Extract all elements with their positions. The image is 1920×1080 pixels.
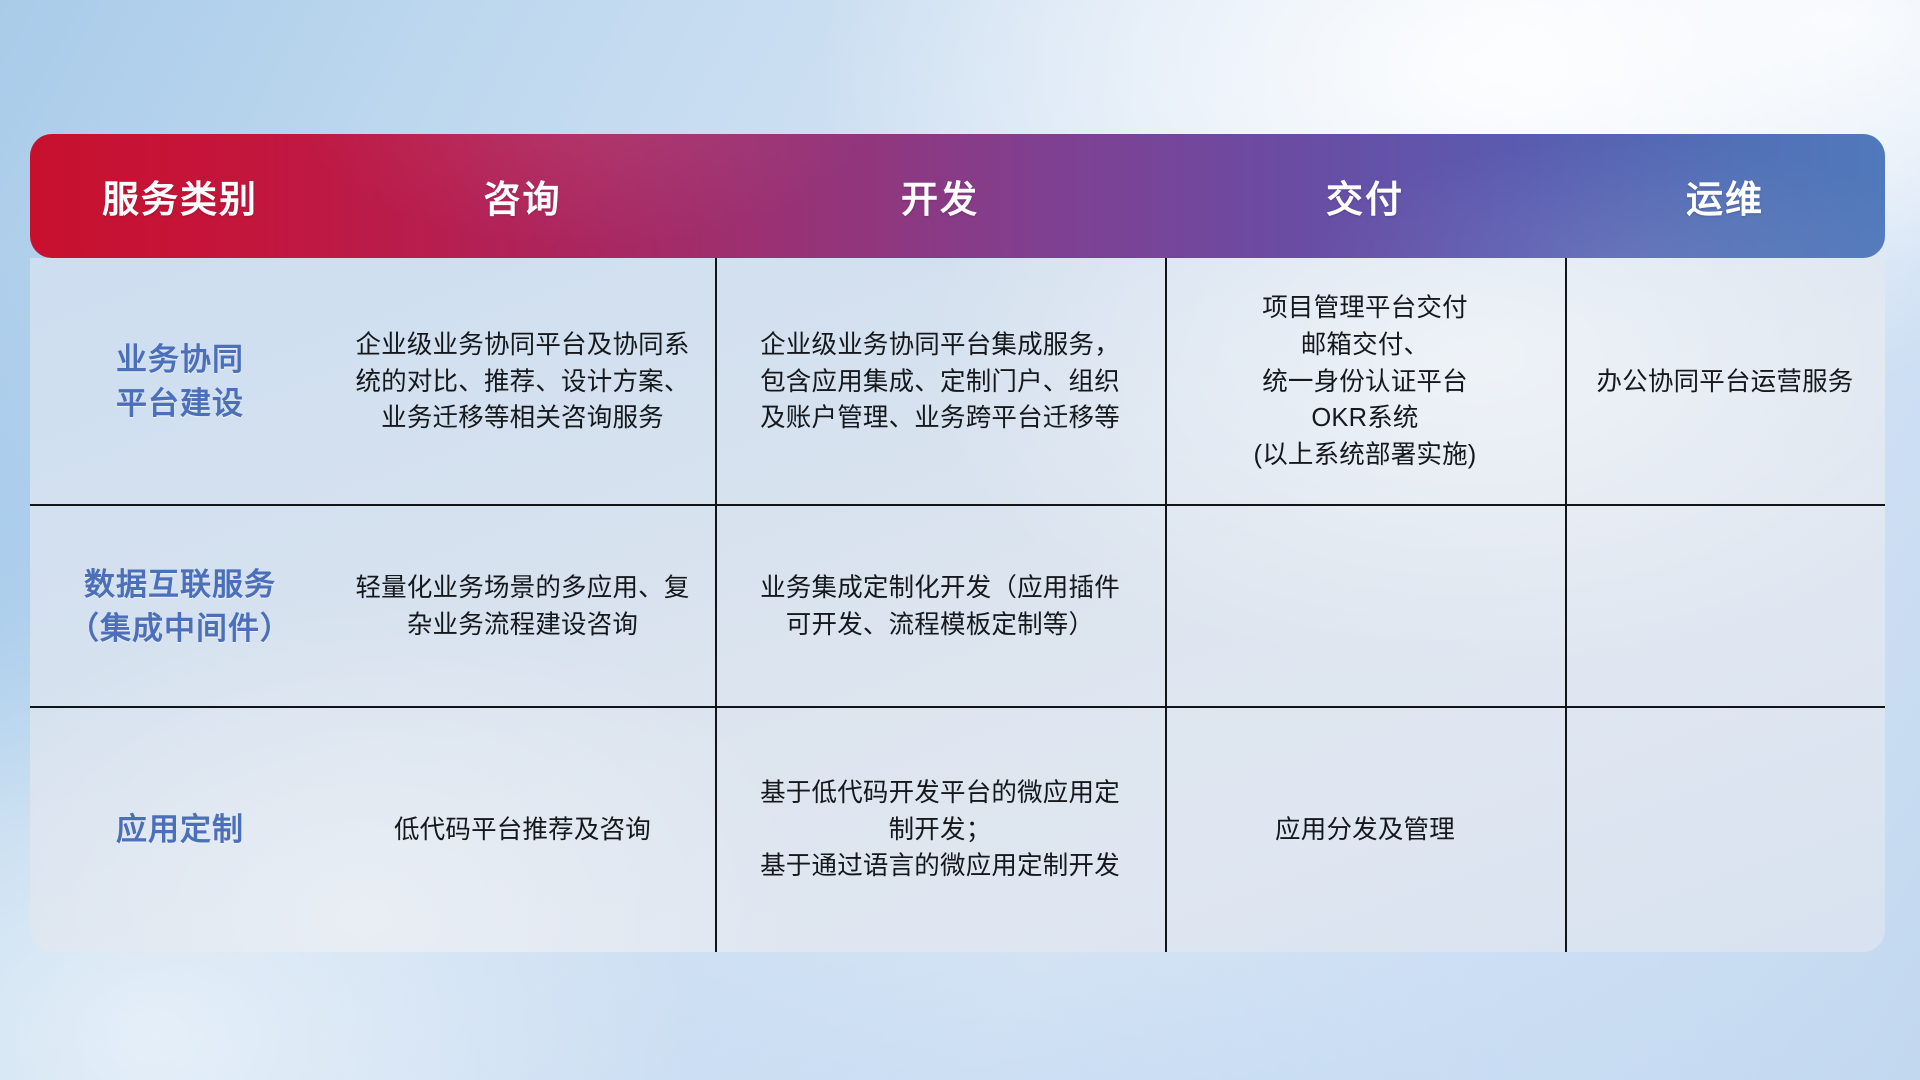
table-header-row: 服务类别 咨询 开发 交付 运维 xyxy=(30,134,1885,258)
column-header-development: 开发 xyxy=(715,169,1165,223)
cell-row1-consulting: 企业级业务协同平台及协同系 统的对比、推荐、设计方案、 业务迁移等相关咨询服务 xyxy=(330,258,715,506)
table-row: 业务协同 平台建设 企业级业务协同平台及协同系 统的对比、推荐、设计方案、 业务… xyxy=(30,258,1885,506)
cell-row3-development: 基于低代码开发平台的微应用定 制开发； 基于通过语言的微应用定制开发 xyxy=(715,708,1165,952)
column-header-operations: 运维 xyxy=(1565,169,1885,223)
cell-row1-delivery: 项目管理平台交付 邮箱交付、 统一身份认证平台 OKR系统 (以上系统部署实施) xyxy=(1165,258,1565,506)
service-category-table: 服务类别 咨询 开发 交付 运维 业务协同 平台建设 企业级业务协同平台及协同系… xyxy=(30,134,1885,952)
cell-row2-development: 业务集成定制化开发（应用插件 可开发、流程模板定制等） xyxy=(715,506,1165,708)
column-header-consulting: 咨询 xyxy=(330,169,715,223)
cell-row2-operations xyxy=(1565,506,1885,708)
column-divider-2 xyxy=(1165,258,1167,952)
table-row: 数据互联服务 （集成中间件） 轻量化业务场景的多应用、复 杂业务流程建设咨询 业… xyxy=(30,506,1885,708)
row-label-business-collaboration: 业务协同 平台建设 xyxy=(30,258,330,506)
cell-row2-consulting: 轻量化业务场景的多应用、复 杂业务流程建设咨询 xyxy=(330,506,715,708)
row-label-data-integration: 数据互联服务 （集成中间件） xyxy=(30,506,330,708)
cell-row3-operations xyxy=(1565,708,1885,952)
column-header-delivery: 交付 xyxy=(1165,169,1565,223)
cell-row2-delivery xyxy=(1165,506,1565,708)
cell-row3-consulting: 低代码平台推荐及咨询 xyxy=(330,708,715,952)
column-divider-3 xyxy=(1565,258,1567,952)
column-divider-1 xyxy=(715,258,717,952)
cell-row3-delivery: 应用分发及管理 xyxy=(1165,708,1565,952)
table-row: 应用定制 低代码平台推荐及咨询 基于低代码开发平台的微应用定 制开发； 基于通过… xyxy=(30,708,1885,952)
table-body: 业务协同 平台建设 企业级业务协同平台及协同系 统的对比、推荐、设计方案、 业务… xyxy=(30,258,1885,952)
column-header-category: 服务类别 xyxy=(30,169,330,223)
row-label-app-customization: 应用定制 xyxy=(30,708,330,952)
cell-row1-operations: 办公协同平台运营服务 xyxy=(1565,258,1885,506)
cell-row1-development: 企业级业务协同平台集成服务， 包含应用集成、定制门户、组织 及账户管理、业务跨平… xyxy=(715,258,1165,506)
